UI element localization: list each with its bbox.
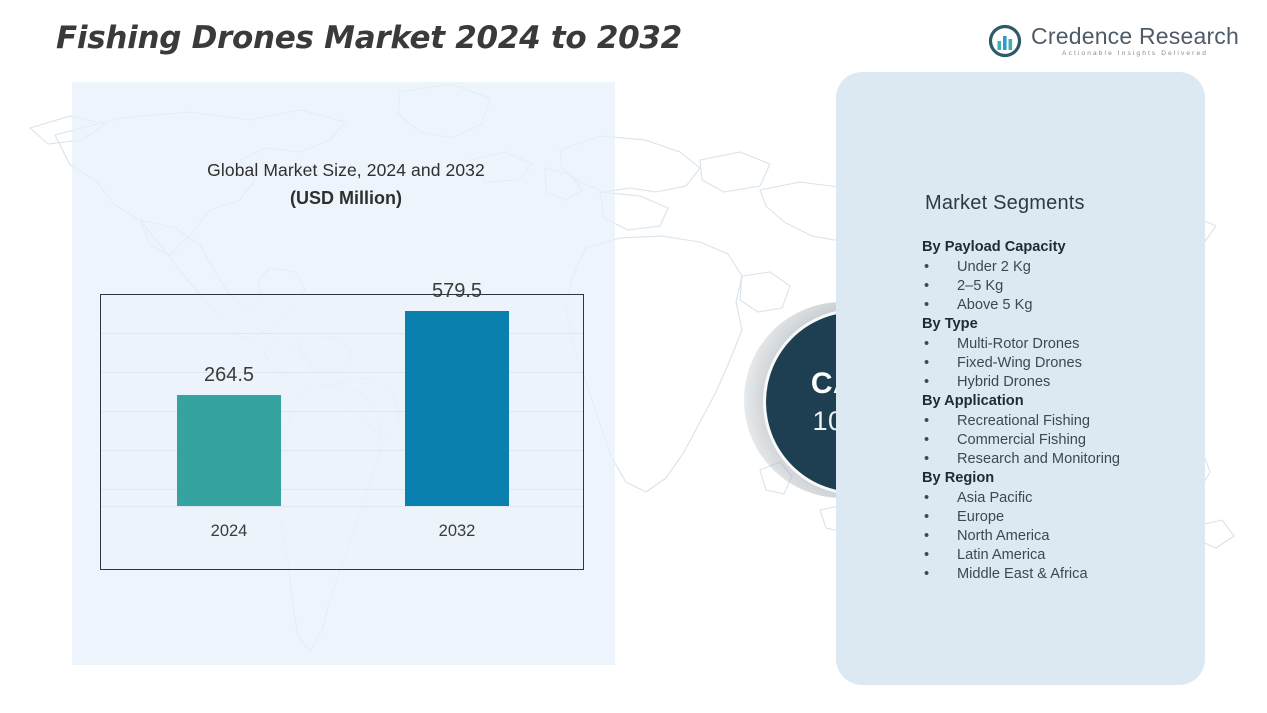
chart-bar-category-label: 2024 (177, 522, 281, 541)
segment-list-item: •Research and Monitoring (922, 450, 1222, 469)
segment-group-heading: By Application (922, 392, 1222, 411)
bullet-icon: • (922, 527, 957, 546)
segment-group: By Region•Asia Pacific•Europe•North Amer… (922, 469, 1222, 584)
bullet-icon: • (922, 546, 957, 565)
chart-heading-line2: (USD Million) (96, 188, 596, 209)
segment-list-item: •Above 5 Kg (922, 296, 1222, 315)
segment-item-label: Recreational Fishing (957, 412, 1222, 431)
bullet-icon: • (922, 565, 957, 584)
chart-bar-rect (177, 395, 281, 506)
segment-list-item: •Recreational Fishing (922, 412, 1222, 431)
segment-item-label: Under 2 Kg (957, 258, 1222, 277)
bullet-icon: • (922, 412, 957, 431)
bullet-icon: • (922, 508, 957, 527)
segment-list-item: •North America (922, 527, 1222, 546)
bullet-icon: • (922, 489, 957, 508)
segment-list-item: •Latin America (922, 546, 1222, 565)
bullet-icon: • (922, 431, 957, 450)
segment-item-label: Research and Monitoring (957, 450, 1222, 469)
segment-list-item: •Europe (922, 508, 1222, 527)
segment-item-label: North America (957, 527, 1222, 546)
segment-item-label: Middle East & Africa (957, 565, 1222, 584)
chart-plot-area: 264.52024579.52032 (101, 295, 583, 569)
bullet-icon: • (922, 354, 957, 373)
bullet-icon: • (922, 450, 957, 469)
chart-bar-rect (405, 311, 509, 506)
chart-heading-line1: Global Market Size, 2024 and 2032 (96, 160, 596, 181)
bullet-icon: • (922, 277, 957, 296)
chart-bar-category-label: 2032 (405, 522, 509, 541)
bullet-icon: • (922, 373, 957, 392)
segment-group: By Application•Recreational Fishing•Comm… (922, 392, 1222, 469)
segment-item-label: Hybrid Drones (957, 373, 1222, 392)
bar-chart: 264.52024579.52032 (100, 294, 584, 570)
segment-item-label: Asia Pacific (957, 489, 1222, 508)
segment-item-label: Above 5 Kg (957, 296, 1222, 315)
segment-list-item: •Fixed-Wing Drones (922, 354, 1222, 373)
bullet-icon: • (922, 296, 957, 315)
logo-name: Credence Research (1031, 25, 1239, 48)
segment-item-label: Fixed-Wing Drones (957, 354, 1222, 373)
chart-bar-value-label: 579.5 (405, 280, 509, 303)
segment-list-item: •Hybrid Drones (922, 373, 1222, 392)
segment-item-label: Multi-Rotor Drones (957, 335, 1222, 354)
chart-bar: 264.52024 (177, 395, 281, 506)
segment-list-item: •Commercial Fishing (922, 431, 1222, 450)
chart-heading: Global Market Size, 2024 and 2032 (USD M… (96, 160, 596, 209)
page-title: Fishing Drones Market 2024 to 2032 (56, 20, 682, 56)
chart-bar-value-label: 264.5 (177, 364, 281, 387)
infographic-canvas: Fishing Drones Market 2024 to 2032 Crede… (0, 0, 1267, 713)
segment-item-label: Latin America (957, 546, 1222, 565)
segment-item-label: 2–5 Kg (957, 277, 1222, 296)
segment-item-label: Commercial Fishing (957, 431, 1222, 450)
segment-list-item: •Multi-Rotor Drones (922, 335, 1222, 354)
segment-group: By Type•Multi-Rotor Drones•Fixed-Wing Dr… (922, 315, 1222, 392)
segment-group: By Payload Capacity•Under 2 Kg•2–5 Kg•Ab… (922, 238, 1222, 315)
segment-group-heading: By Region (922, 469, 1222, 488)
segment-list-item: •Under 2 Kg (922, 258, 1222, 277)
brand-logo: Credence Research Actionable Insights De… (988, 24, 1239, 58)
segments-list: By Payload Capacity•Under 2 Kg•2–5 Kg•Ab… (922, 238, 1222, 584)
segment-list-item: •Middle East & Africa (922, 565, 1222, 584)
bullet-icon: • (922, 258, 957, 277)
segment-item-label: Europe (957, 508, 1222, 527)
segment-group-heading: By Payload Capacity (922, 238, 1222, 257)
segment-group-heading: By Type (922, 315, 1222, 334)
segments-title: Market Segments (925, 192, 1085, 215)
bar-chart-circle-icon (988, 24, 1022, 58)
bullet-icon: • (922, 335, 957, 354)
chart-bar: 579.52032 (405, 311, 509, 506)
segment-list-item: •Asia Pacific (922, 489, 1222, 508)
segment-list-item: •2–5 Kg (922, 277, 1222, 296)
logo-tagline: Actionable Insights Delivered (1031, 51, 1239, 58)
